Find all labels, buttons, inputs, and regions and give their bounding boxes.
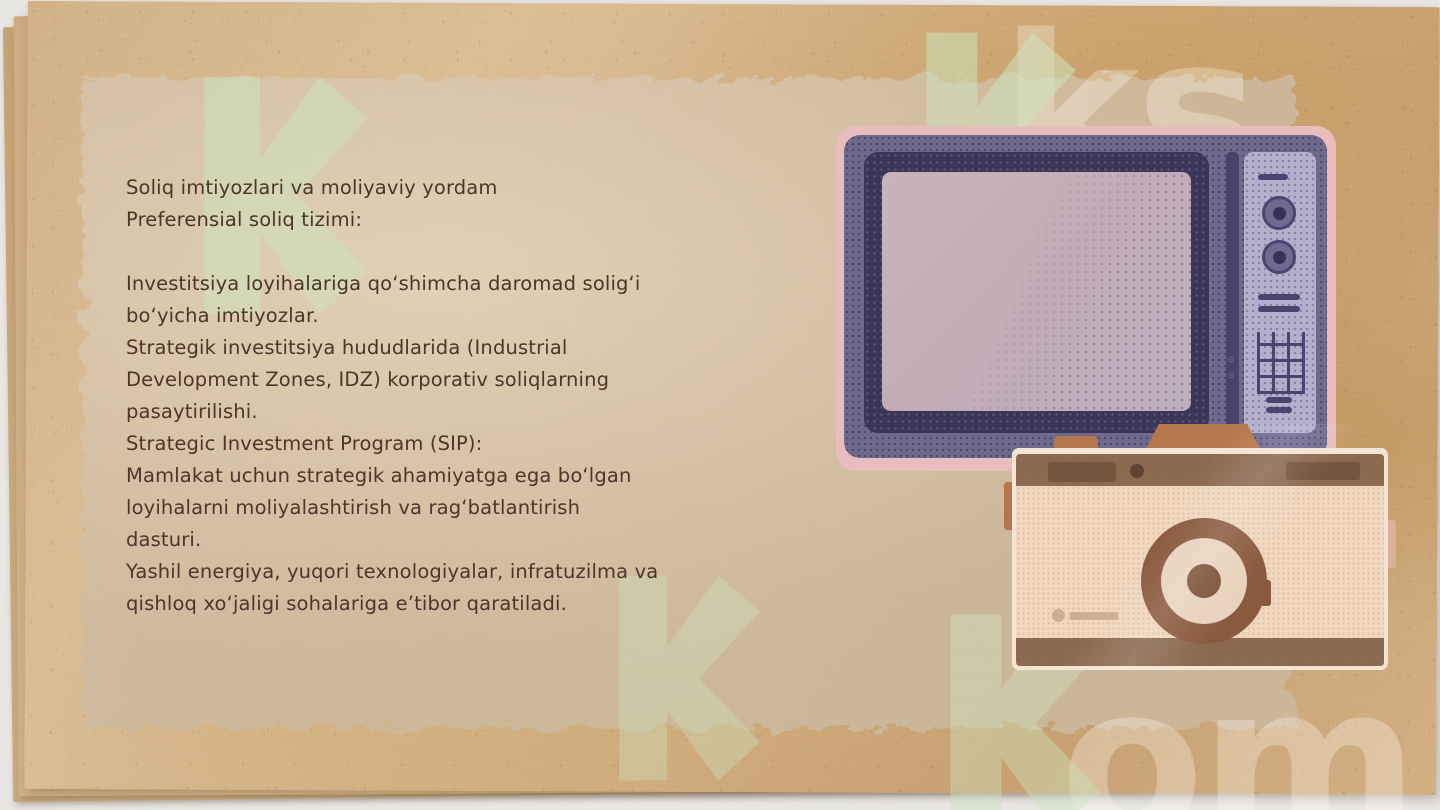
tv-screen xyxy=(882,172,1191,411)
tv-indicator-led-2 xyxy=(1228,372,1235,379)
tv-screen-halftone xyxy=(882,172,1191,411)
tv-bezel xyxy=(864,152,1209,433)
slide-canvas: ks om xyxy=(0,0,1440,810)
slide-body-text: Soliq imtiyozlari va moliyaviy yordam Pr… xyxy=(126,172,856,620)
camera-lens-tab xyxy=(1251,580,1271,606)
camera-top-badge-left xyxy=(1048,462,1116,482)
tv-knob-lower[interactable] xyxy=(1262,240,1296,274)
tv-dash-top xyxy=(1258,174,1288,180)
tv-control-divider xyxy=(1226,152,1239,433)
tv-control-panel xyxy=(1244,152,1316,433)
tv-dash-bottom-1 xyxy=(1266,397,1292,403)
retro-television-illustration xyxy=(836,126,1336,471)
tv-dash-bottom-2 xyxy=(1266,407,1292,413)
retro-camera-illustration xyxy=(1012,424,1388,670)
camera-lens-aperture xyxy=(1187,564,1221,598)
tv-knob-upper[interactable] xyxy=(1262,196,1296,230)
camera-shutter-button[interactable] xyxy=(1130,464,1144,478)
tv-dash-mid-2 xyxy=(1258,306,1300,312)
tv-speaker-grille xyxy=(1257,332,1305,394)
tv-dash-mid-1 xyxy=(1258,294,1300,300)
camera-lens-barrel xyxy=(1141,518,1267,644)
camera-front-bar xyxy=(1070,612,1118,620)
camera-lens-ring xyxy=(1161,538,1247,624)
camera-front-dot xyxy=(1052,609,1065,622)
tv-indicator-led-1 xyxy=(1228,356,1235,363)
camera-top-badge-right xyxy=(1286,462,1360,480)
